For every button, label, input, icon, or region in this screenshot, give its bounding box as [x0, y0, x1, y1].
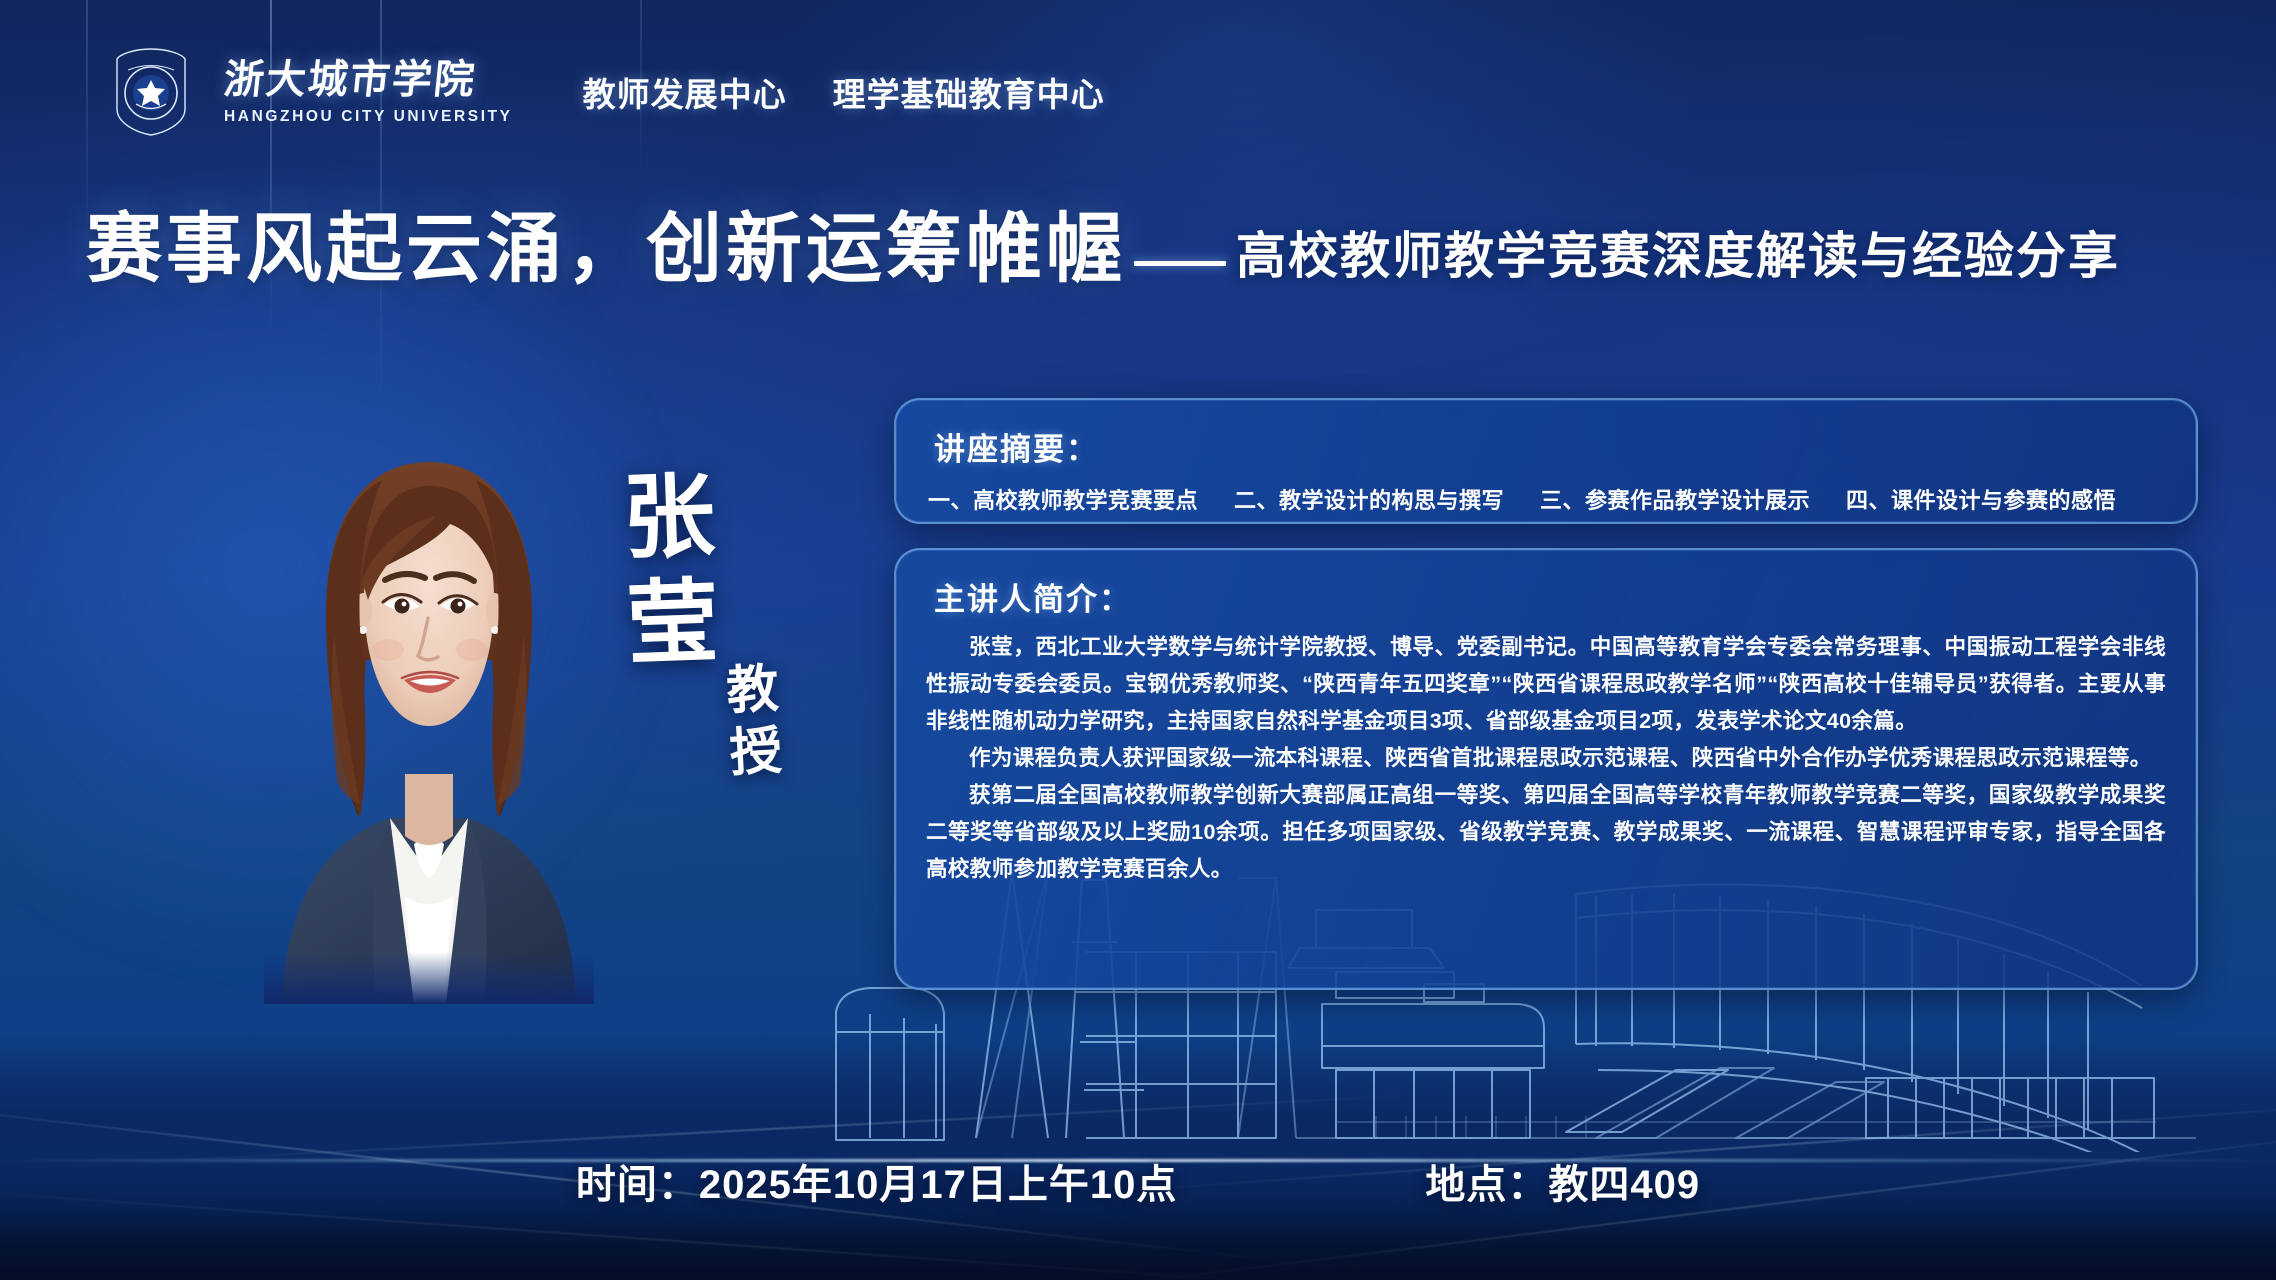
- abstract-item-4: 四、课件设计与参赛的感悟: [1846, 483, 2116, 515]
- bio-paragraph-1: 张莹，西北工业大学数学与统计学院教授、博导、党委副书记。中国高等教育学会专委会常…: [926, 629, 2166, 740]
- university-crest-icon: [112, 46, 190, 138]
- university-name-block: 浙大城市学院 HANGZHOU CITY UNIVERSITY: [224, 60, 513, 125]
- speaker-academic-title: 教授: [715, 661, 781, 788]
- department-science-foundation-education-center: 理学基础教育中心: [833, 68, 1105, 116]
- abstract-heading: 讲座摘要：: [934, 424, 2166, 469]
- department-teacher-development-center: 教师发展中心: [583, 68, 787, 116]
- title-dash-icon: [1134, 261, 1226, 266]
- bio-heading: 主讲人简介：: [934, 574, 2166, 619]
- speaker-name: 张莹: [608, 466, 715, 681]
- poster-canvas: 浙大城市学院 HANGZHOU CITY UNIVERSITY 教师发展中心 理…: [0, 0, 2276, 1280]
- university-name-cn: 浙大城市学院: [222, 60, 515, 100]
- bio-paragraph-3: 获第二届全国高校教师教学创新大赛部属正高组一等奖、第四届全国高等学校青年教师教学…: [926, 777, 2166, 888]
- speaker-portrait-photo: [264, 404, 594, 1004]
- abstract-card: 讲座摘要： 一、高校教师教学竞赛要点 二、教学设计的构思与撰写 三、参赛作品教学…: [894, 398, 2198, 524]
- speaker-bio-card: 主讲人简介： 张莹，西北工业大学数学与统计学院教授、博导、党委副书记。中国高等教…: [894, 548, 2198, 990]
- poster-title-block: 赛事风起云涌，创新运筹帷幄 高校教师教学竞赛深度解读与经验分享: [86, 212, 2120, 288]
- poster-title-main: 赛事风起云涌，创新运筹帷幄: [86, 212, 1126, 288]
- abstract-item-list: 一、高校教师教学竞赛要点 二、教学设计的构思与撰写 三、参赛作品教学设计展示 四…: [928, 483, 2166, 515]
- bio-paragraph-2: 作为课程负责人获评国家级一流本科课程、陕西省首批课程思政示范课程、陕西省中外合作…: [926, 740, 2166, 777]
- abstract-item-3: 三、参赛作品教学设计展示: [1540, 483, 1810, 515]
- poster-header: 浙大城市学院 HANGZHOU CITY UNIVERSITY 教师发展中心 理…: [112, 46, 1105, 138]
- bio-body: 张莹，西北工业大学数学与统计学院教授、博导、党委副书记。中国高等教育学会专委会常…: [926, 629, 2166, 888]
- abstract-item-2: 二、教学设计的构思与撰写: [1234, 483, 1504, 515]
- event-place: 地点：教四409: [1425, 1152, 1700, 1210]
- poster-footer: 时间：2025年10月17日上午10点 地点：教四409: [0, 1152, 2276, 1210]
- poster-title-subtitle: 高校教师教学竞赛深度解读与经验分享: [1236, 231, 2120, 288]
- header-departments: 教师发展中心 理学基础教育中心: [583, 68, 1105, 116]
- abstract-item-1: 一、高校教师教学竞赛要点: [928, 483, 1198, 515]
- university-name-en: HANGZHOU CITY UNIVERSITY: [224, 109, 513, 125]
- event-time: 时间：2025年10月17日上午10点: [576, 1152, 1177, 1210]
